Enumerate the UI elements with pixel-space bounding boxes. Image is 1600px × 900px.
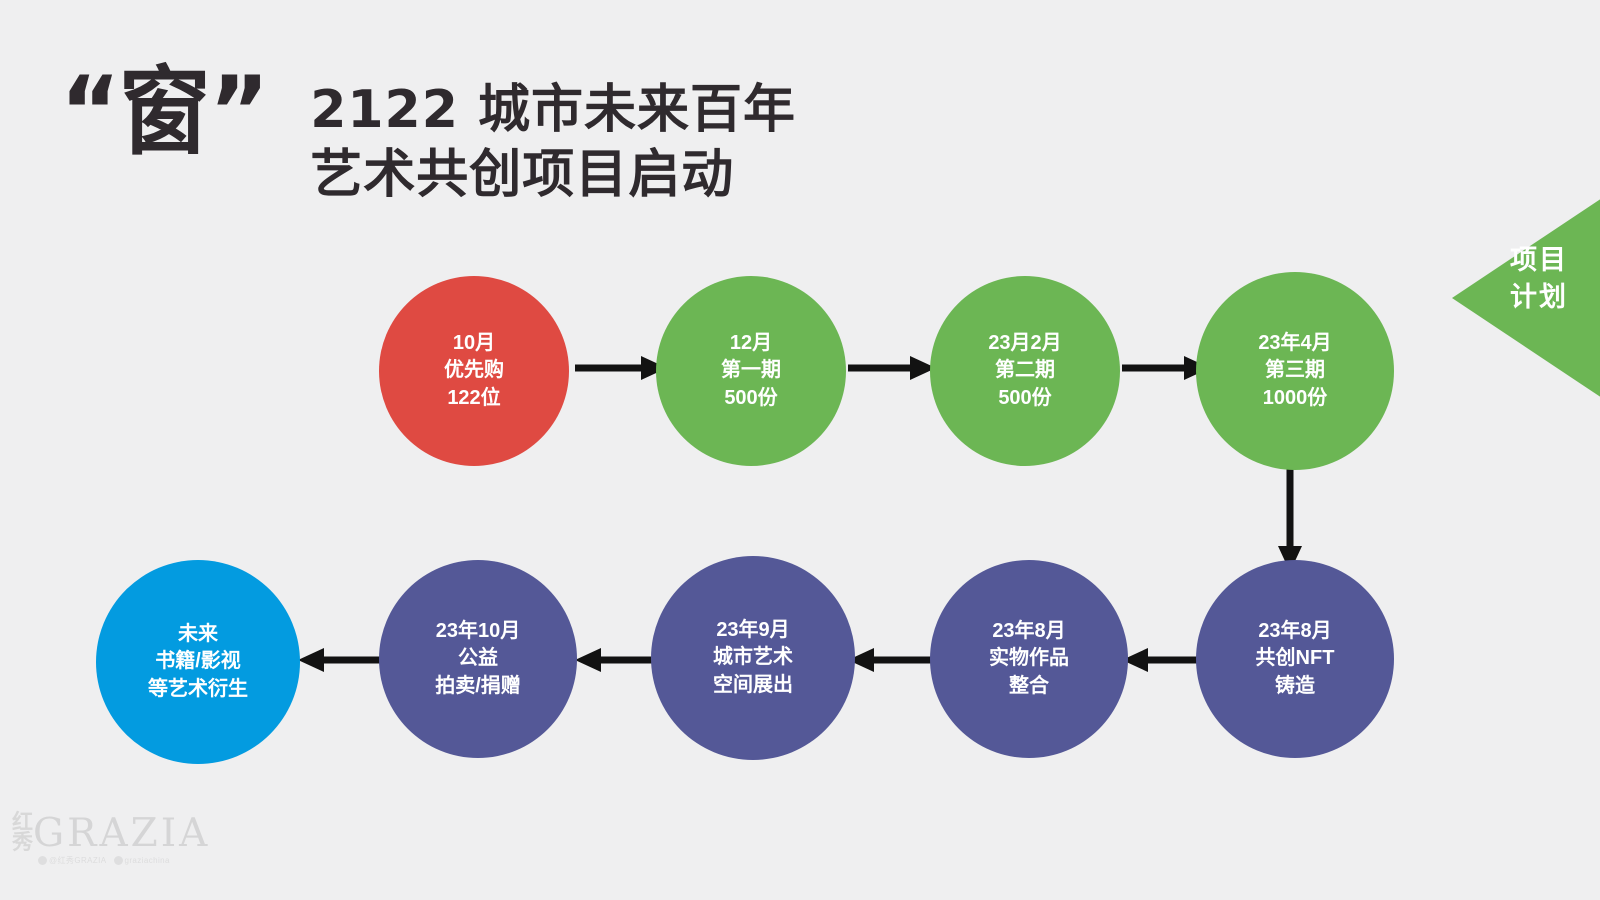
node-8-line-3: 拍卖/捐赠 xyxy=(435,673,521,701)
weibo-icon xyxy=(38,856,47,865)
node-5-line-1: 23年8月 xyxy=(1258,618,1331,646)
node-9-line-1: 未来 xyxy=(178,621,218,649)
plan-line-2: 计划 xyxy=(1510,279,1600,316)
flow-node-3[interactable]: 23月2月 第二期 500份 xyxy=(930,276,1120,466)
node-9-line-3: 等艺术衍生 xyxy=(148,676,248,704)
node-6-line-2: 实物作品 xyxy=(989,645,1069,673)
node-7-line-1: 23年9月 xyxy=(716,617,789,645)
node-3-line-2: 第二期 xyxy=(995,357,1055,385)
node-9-line-2: 书籍/影视 xyxy=(155,648,241,676)
node-5-line-3: 铸造 xyxy=(1275,673,1315,701)
watermark-logo: 红 秀 GRAZIA xyxy=(12,812,182,852)
node-5-line-2: 共创NFT xyxy=(1256,645,1335,673)
wechat-icon xyxy=(114,856,123,865)
flow-node-6[interactable]: 23年8月 实物作品 整合 xyxy=(930,560,1128,758)
node-1-line-3: 122位 xyxy=(447,385,500,413)
arrow-node1-to-node2 xyxy=(575,352,667,384)
flow-node-1[interactable]: 10月 优先购 122位 xyxy=(379,276,569,466)
flow-node-7[interactable]: 23年9月 城市艺术 空间展出 xyxy=(651,556,855,760)
node-1-line-1: 10月 xyxy=(453,330,495,358)
watermark-cn-name: 红 秀 xyxy=(12,812,32,852)
flow-node-9[interactable]: 未来 书籍/影视 等艺术衍生 xyxy=(96,560,300,764)
node-6-line-3: 整合 xyxy=(1009,673,1049,701)
node-8-line-1: 23年10月 xyxy=(436,618,521,646)
watermark-latin-name: GRAZIA xyxy=(33,815,210,852)
arrow-node2-to-node3 xyxy=(848,352,936,384)
node-3-line-1: 23月2月 xyxy=(988,330,1061,358)
node-4-line-1: 23年4月 xyxy=(1258,330,1331,358)
watermark-cn-bottom: 秀 xyxy=(12,832,32,852)
brand-mark-window: “窗” xyxy=(60,62,300,163)
node-4-line-3: 1000份 xyxy=(1263,385,1328,413)
weibo-handle: @红秀GRAZIA xyxy=(38,855,107,866)
node-1-line-2: 优先购 xyxy=(444,357,504,385)
weibo-handle-text: @红秀GRAZIA xyxy=(49,855,107,866)
node-2-line-2: 第一期 xyxy=(721,357,781,385)
title-line-1: 2122 城市未来百年 xyxy=(310,78,796,143)
node-7-line-3: 空间展出 xyxy=(713,672,793,700)
wechat-handle-text: graziachina xyxy=(125,856,170,865)
node-6-line-1: 23年8月 xyxy=(992,618,1065,646)
watermark-handles: @红秀GRAZIA graziachina xyxy=(38,855,182,866)
node-7-line-2: 城市艺术 xyxy=(713,644,793,672)
flow-node-8[interactable]: 23年10月 公益 拍卖/捐赠 xyxy=(379,560,577,758)
arrow-node7-to-node8 xyxy=(575,644,663,676)
page-title: 2122 城市未来百年 艺术共创项目启动 xyxy=(310,78,796,208)
flow-node-4[interactable]: 23年4月 第三期 1000份 xyxy=(1196,272,1394,470)
arrow-node6-to-node7 xyxy=(848,644,936,676)
flow-node-2[interactable]: 12月 第一期 500份 xyxy=(656,276,846,466)
node-2-line-1: 12月 xyxy=(730,330,772,358)
node-3-line-3: 500份 xyxy=(998,385,1051,413)
node-4-line-2: 第三期 xyxy=(1265,357,1325,385)
node-8-line-2: 公益 xyxy=(458,645,498,673)
node-2-line-3: 500份 xyxy=(724,385,777,413)
arrow-node8-to-node9 xyxy=(298,644,382,676)
flow-node-5[interactable]: 23年8月 共创NFT 铸造 xyxy=(1196,560,1394,758)
project-plan-banner: 项目 计划 xyxy=(1452,198,1600,398)
plan-line-1: 项目 xyxy=(1510,242,1600,279)
grazia-watermark: 红 秀 GRAZIA @红秀GRAZIA graziachina xyxy=(12,812,182,884)
presentation-slide: “窗” 2122 城市未来百年 艺术共创项目启动 项目 计划 xyxy=(0,0,1600,900)
wechat-handle: graziachina xyxy=(114,856,170,865)
project-plan-label: 项目 计划 xyxy=(1510,242,1600,317)
slide-title-block: “窗” 2122 城市未来百年 艺术共创项目启动 xyxy=(60,62,796,208)
title-line-2: 艺术共创项目启动 xyxy=(310,143,796,208)
